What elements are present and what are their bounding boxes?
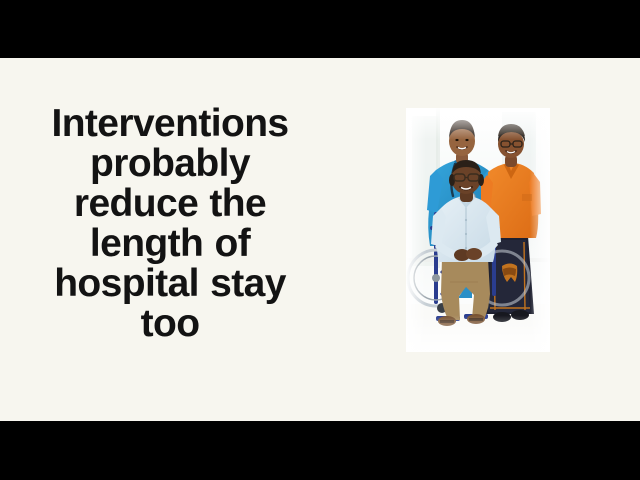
video-frame: Interventions probably reduce the length… bbox=[0, 0, 640, 480]
letterbox-bar-bottom bbox=[0, 421, 640, 480]
slide-content: Interventions probably reduce the length… bbox=[0, 58, 640, 421]
headline-line-3: reduce the bbox=[14, 184, 326, 224]
letterbox-bar-top bbox=[0, 0, 640, 58]
headline-line-5: hospital stay bbox=[14, 264, 326, 304]
headline-line-1: Interventions bbox=[14, 104, 326, 144]
healthcare-photo bbox=[406, 108, 550, 352]
healthcare-photo-illustration bbox=[406, 108, 550, 352]
headline-line-6: too bbox=[14, 304, 326, 344]
headline-line-4: length of bbox=[14, 224, 326, 264]
page-title: Interventions probably reduce the length… bbox=[14, 104, 326, 344]
headline-line-2: probably bbox=[14, 144, 326, 184]
